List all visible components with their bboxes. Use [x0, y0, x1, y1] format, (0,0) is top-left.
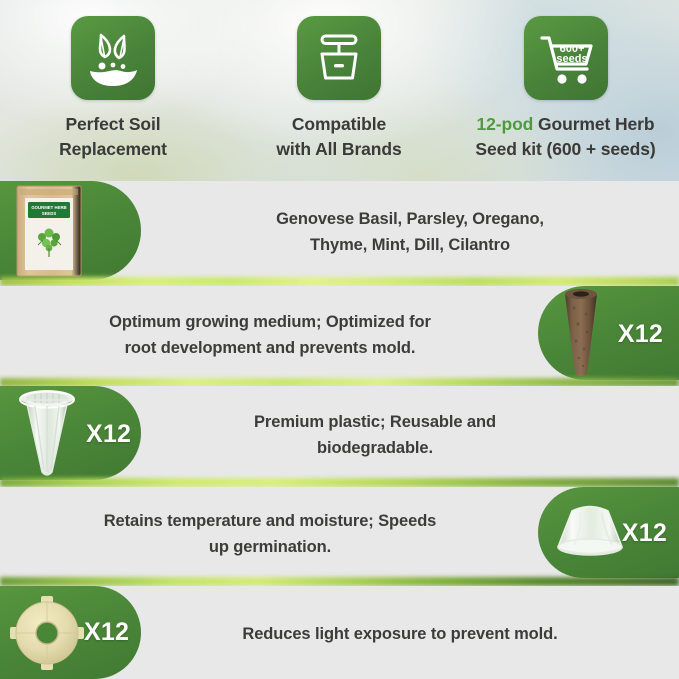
feature-label-line1: Perfect Soil — [0, 112, 226, 137]
row-grow-basket: X12 Premium plastic; Reusable and biodeg… — [0, 386, 679, 480]
soil-leaves-icon — [71, 16, 155, 100]
feature-label-line1-rest: Gourmet Herb — [533, 114, 654, 134]
row-description: Genovese Basil, Parsley, Oregano, Thyme,… — [150, 207, 670, 258]
header-features: Perfect Soil Replacement Compatible with… — [0, 0, 679, 181]
row-description-line1: Retains temperature and moisture; Speeds — [20, 509, 520, 535]
feature-label-line2: with All Brands — [226, 137, 452, 162]
seed-packet-icon: GOURMET HERB SEEDS — [16, 185, 82, 277]
shopping-cart-seeds-icon: 600+ seeds — [524, 16, 608, 100]
feature-seed-kit: 600+ seeds 12-pod Gourmet Herb Seed kit … — [452, 16, 679, 162]
row-description-line1: Reduces light exposure to prevent mold. — [150, 622, 650, 648]
quantity-badge: X12 — [622, 519, 667, 548]
product-panel-left: GOURMET HERB SEEDS — [0, 181, 141, 280]
cart-seed-count-line2: seeds — [556, 53, 587, 65]
packet-label-line2: SEEDS — [42, 211, 57, 216]
infographic-page: Perfect Soil Replacement Compatible with… — [0, 0, 679, 679]
feature-label: Compatible with All Brands — [226, 112, 452, 162]
humidity-dome-icon — [550, 501, 630, 563]
product-panel-right: X12 — [538, 487, 679, 578]
packet-label-line1: GOURMET HERB — [31, 205, 66, 210]
row-divider — [0, 277, 679, 286]
quantity-badge: X12 — [618, 320, 663, 349]
feature-label-line1: 12-pod Gourmet Herb — [452, 112, 679, 137]
quantity-badge: X12 — [86, 420, 131, 449]
row-description-line2: up germination. — [20, 535, 520, 561]
feature-compatible-brands: Compatible with All Brands — [226, 16, 452, 162]
row-description: Premium plastic; Reusable and biodegrada… — [150, 410, 600, 461]
feature-perfect-soil: Perfect Soil Replacement — [0, 16, 226, 162]
row-description-line1: Optimum growing medium; Optimized for — [20, 310, 520, 336]
row-seed-packet: GOURMET HERB SEEDS — [0, 181, 679, 280]
pod-count-accent: 12-pod — [477, 114, 534, 134]
planter-compatible-icon — [297, 16, 381, 100]
row-light-shield: X12 Reduces light exposure to prevent mo… — [0, 586, 679, 679]
feature-label-line1: Compatible — [226, 112, 452, 137]
row-description-line2: root development and prevents mold. — [20, 336, 520, 362]
row-divider — [0, 577, 679, 586]
grow-sponge-plug-icon — [556, 286, 606, 380]
row-description: Reduces light exposure to prevent mold. — [150, 622, 650, 648]
feature-label: 12-pod Gourmet Herb Seed kit (600 + seed… — [452, 112, 679, 162]
row-description-line2: Thyme, Mint, Dill, Cilantro — [150, 233, 670, 259]
product-panel-right: X12 — [538, 286, 679, 380]
row-description-line1: Genovese Basil, Parsley, Oregano, — [150, 207, 670, 233]
row-grow-sponge: X12 Optimum growing medium; Optimized fo… — [0, 286, 679, 380]
feature-label-line2: Replacement — [0, 137, 226, 162]
product-panel-left: X12 — [0, 386, 141, 480]
row-description-line1: Premium plastic; Reusable and — [150, 410, 600, 436]
row-description: Optimum growing medium; Optimized for ro… — [20, 310, 520, 361]
product-panel-left: X12 — [0, 586, 141, 679]
light-shield-disc-icon — [8, 594, 86, 672]
feature-label-line2: Seed kit (600 + seeds) — [452, 137, 679, 162]
quantity-badge: X12 — [84, 618, 129, 647]
feature-label: Perfect Soil Replacement — [0, 112, 226, 162]
row-divider — [0, 478, 679, 487]
plastic-grow-basket-icon — [16, 384, 78, 482]
row-humidity-dome: X12 Retains temperature and moisture; Sp… — [0, 487, 679, 578]
row-description-line2: biodegradable. — [150, 436, 600, 462]
row-description: Retains temperature and moisture; Speeds… — [20, 509, 520, 560]
